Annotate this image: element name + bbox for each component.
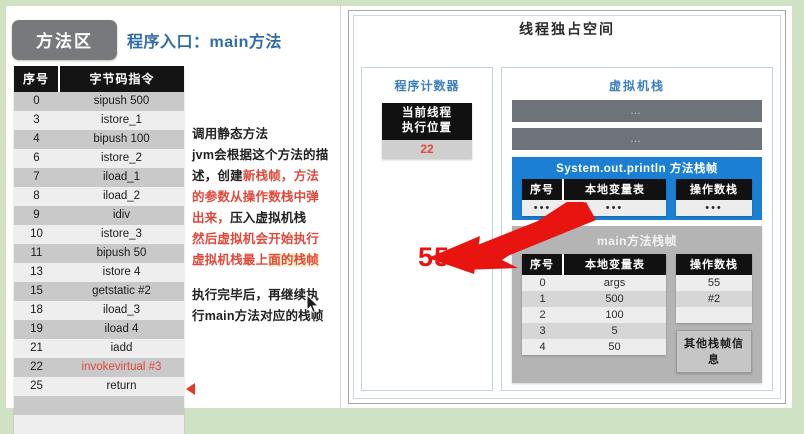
operand-stack-row: 55 [676, 275, 752, 291]
bytecode-row-index: 18 [14, 301, 59, 320]
bytecode-row-instruction: iload 4 [59, 320, 184, 339]
bytecode-row-index: 25 [14, 377, 59, 396]
main-lvt-header-row: 序号 本地变量表 [522, 254, 666, 275]
vm-stack-empty-slot: … [512, 100, 762, 122]
bytecode-row-instruction: iload_2 [59, 187, 184, 206]
bytecode-row-index: 7 [14, 168, 59, 187]
println-frame-columns: 序号 本地变量表 •••••• 操作数栈 [512, 179, 762, 216]
bytecode-row-instruction [59, 415, 184, 434]
bytecode-row: 0sipush 500 [14, 92, 184, 111]
bytecode-row-index: 21 [14, 339, 59, 358]
main-frame-columns: 序号 本地变量表 0args1500210035450 操作数栈 [512, 254, 762, 373]
println-lvt-col-index: 序号 [522, 179, 563, 200]
bytecode-row: 21iadd [14, 339, 184, 358]
bytecode-row [14, 396, 184, 415]
lvt-row: 2100 [522, 307, 666, 323]
bytecode-row-index [14, 415, 59, 434]
bytecode-row: 10istore_3 [14, 225, 184, 244]
bytecode-row: 4bipush 100 [14, 130, 184, 149]
lvt-row-value: 100 [563, 307, 666, 323]
program-counter-cell-header: 当前线程 执行位置 [382, 103, 472, 140]
lvt-row-index: 0 [522, 275, 563, 291]
method-area-pane: 方法区 程序入口：main方法 序号 字节码指令 0sipush 5003ist… [6, 6, 342, 408]
main-local-variable-table: 序号 本地变量表 0args1500210035450 [522, 254, 666, 355]
bytecode-row-instruction: istore 4 [59, 263, 184, 282]
println-ops-header-row: 操作数栈 [676, 179, 752, 200]
bytecode-row-instruction: istore_3 [59, 225, 184, 244]
main-lvt-col-value: 本地变量表 [563, 254, 666, 275]
bytecode-row: 25return [14, 377, 184, 396]
bytecode-row-index: 10 [14, 225, 59, 244]
bytecode-row-instruction: bipush 50 [59, 244, 184, 263]
bytecode-row: 19iload 4 [14, 320, 184, 339]
bytecode-row-index: 13 [14, 263, 59, 282]
main-frame-title: main方法栈帧 [512, 230, 762, 254]
main-ops-body: 55#2 [676, 275, 752, 323]
bytecode-row-index: 0 [14, 92, 59, 111]
annotation-line-7: 虚拟机栈最上面的栈帧 [192, 250, 344, 271]
lvt-row: 450 [522, 339, 666, 355]
main-lvt-body: 0args1500210035450 [522, 275, 666, 355]
lvt-row-index: ••• [522, 200, 563, 216]
operand-stack-value: 55 [676, 275, 752, 291]
annotation-text-block: 调用静态方法 jvm会根据这个方法的描 述，创建新栈帧，方法 的参数从操作数栈中… [192, 124, 344, 327]
annotation-line-3-black: 述，创建 [192, 169, 243, 183]
main-ops-header-row: 操作数栈 [676, 254, 752, 275]
main-operand-stack-table: 操作数栈 55#2 [676, 254, 752, 323]
bytecode-row: 22invokevirtual #3 [14, 358, 184, 377]
lvt-row-index: 4 [522, 339, 563, 355]
main-lvt-col-index: 序号 [522, 254, 563, 275]
bytecode-row-instruction: iadd [59, 339, 184, 358]
bytecode-row-instruction: istore_2 [59, 149, 184, 168]
vm-stack-title: 虚拟机栈 [502, 77, 772, 94]
annotation-line-7-b-highlighted: 面的栈帧 [268, 253, 319, 267]
lvt-row: 1500 [522, 291, 666, 307]
annotation-line-5: 出来，压入虚拟机栈 [192, 208, 344, 229]
lvt-row-value: args [563, 275, 666, 291]
operand-stack-row: ••• [676, 200, 752, 216]
lvt-row-index: 3 [522, 323, 563, 339]
pane-divider [340, 6, 341, 408]
program-counter-cell: 当前线程 执行位置 22 [382, 103, 472, 159]
annotation-line-1: 调用静态方法 [192, 124, 344, 145]
bytecode-row: 9idiv [14, 206, 184, 225]
println-ops-col-title: 操作数栈 [676, 179, 752, 200]
annotation-line-4: 的参数从操作数栈中弹 [192, 187, 344, 208]
mouse-cursor-icon [306, 294, 320, 314]
bytecode-row-index: 3 [14, 111, 59, 130]
bytecode-row [14, 415, 184, 434]
current-instruction-marker-icon [186, 383, 195, 395]
bytecode-table-body: 0sipush 5003istore_14bipush 1006istore_2… [14, 92, 184, 434]
bytecode-row: 18iload_3 [14, 301, 184, 320]
bytecode-row-index: 19 [14, 320, 59, 339]
vm-stack-panel: 虚拟机栈 … … System.out.println 方法栈帧 序号 本地变量… [501, 67, 773, 391]
pc-label-line-2: 执行位置 [382, 121, 472, 136]
main-ops-col-title: 操作数栈 [676, 254, 752, 275]
program-counter-value: 22 [382, 140, 472, 159]
bytecode-row: 11bipush 50 [14, 244, 184, 263]
bytecode-row-index: 8 [14, 187, 59, 206]
bytecode-row-index: 22 [14, 358, 59, 377]
arrow-value-label: 55 [418, 242, 450, 273]
thread-space-title: 线程独占空间 [349, 19, 785, 39]
println-operand-stack-column: 操作数栈 ••• [676, 179, 752, 216]
operand-stack-value [676, 307, 752, 323]
bytecode-row-instruction: sipush 500 [59, 92, 184, 111]
bytecode-col-index: 序号 [14, 66, 59, 92]
bytecode-table-header-row: 序号 字节码指令 [14, 66, 184, 92]
pc-label-line-1: 当前线程 [382, 106, 472, 121]
operand-stack-row: #2 [676, 291, 752, 307]
operand-stack-value: ••• [676, 200, 752, 216]
bytecode-row-instruction: bipush 100 [59, 130, 184, 149]
lvt-row: •••••• [522, 200, 666, 216]
println-lvt-body: •••••• [522, 200, 666, 216]
main-operand-stack-column: 操作数栈 55#2 其他栈帧信息 [676, 254, 752, 373]
bytecode-row-instruction: invokevirtual #3 [59, 358, 184, 377]
lvt-row: 0args [522, 275, 666, 291]
annotation-line-5-black: 压入虚拟机栈 [230, 211, 306, 225]
program-entry-title: 程序入口：main方法 [127, 28, 282, 52]
bytecode-row-index: 15 [14, 282, 59, 301]
bytecode-row-instruction: iload_1 [59, 168, 184, 187]
bytecode-row: 3istore_1 [14, 111, 184, 130]
println-lvt-header-row: 序号 本地变量表 [522, 179, 666, 200]
lvt-row-index: 1 [522, 291, 563, 307]
bytecode-row-instruction: idiv [59, 206, 184, 225]
method-area-chip: 方法区 [12, 20, 117, 60]
thread-exclusive-space-panel: 线程独占空间 程序计数器 当前线程 执行位置 22 虚拟机栈 … … Syste… [348, 10, 786, 404]
bytecode-row-index: 9 [14, 206, 59, 225]
annotation-line-8: 执行完毕后，再继续执 [192, 285, 344, 306]
annotation-line-6: 然后虚拟机会开始执行 [192, 229, 344, 250]
lvt-row-value: 500 [563, 291, 666, 307]
main-stack-frame: main方法栈帧 序号 本地变量表 0args1500210035450 [512, 226, 762, 383]
println-lvt-col-value: 本地变量表 [563, 179, 666, 200]
bytecode-row-index: 11 [14, 244, 59, 263]
annotation-line-7-a: 虚拟机栈最上 [192, 253, 268, 267]
bytecode-row: 6istore_2 [14, 149, 184, 168]
bytecode-row: 13istore 4 [14, 263, 184, 282]
println-frame-title: System.out.println 方法栈帧 [512, 159, 762, 179]
bytecode-row-instruction: iload_3 [59, 301, 184, 320]
bytecode-row: 15getstatic #2 [14, 282, 184, 301]
bytecode-row: 8iload_2 [14, 187, 184, 206]
bytecode-row-index [14, 396, 59, 415]
bytecode-table: 序号 字节码指令 0sipush 5003istore_14bipush 100… [14, 66, 184, 434]
annotation-line-3-red: 新栈帧，方法 [243, 169, 319, 183]
println-ops-body: ••• [676, 200, 752, 216]
slide-page: 方法区 程序入口：main方法 序号 字节码指令 0sipush 5003ist… [6, 6, 792, 408]
operand-stack-value: #2 [676, 291, 752, 307]
bytecode-row-index: 6 [14, 149, 59, 168]
method-area-header: 方法区 程序入口：main方法 [12, 20, 282, 60]
bytecode-row-instruction [59, 396, 184, 415]
annotation-line-3: 述，创建新栈帧，方法 [192, 166, 344, 187]
lvt-row-value: ••• [563, 200, 666, 216]
annotation-spacer [192, 271, 344, 285]
operand-stack-row [676, 307, 752, 323]
bytecode-row: 7iload_1 [14, 168, 184, 187]
program-counter-panel: 程序计数器 当前线程 执行位置 22 [361, 67, 493, 391]
println-stack-frame: System.out.println 方法栈帧 序号 本地变量表 •••••• [512, 157, 762, 220]
bytecode-row-instruction: istore_1 [59, 111, 184, 130]
vm-stack-empty-slot: … [512, 128, 762, 150]
annotation-line-5-red: 出来， [192, 211, 230, 225]
lvt-row: 35 [522, 323, 666, 339]
program-counter-title: 程序计数器 [362, 77, 492, 94]
other-frame-info-box: 其他栈帧信息 [676, 330, 752, 373]
println-local-variable-table: 序号 本地变量表 •••••• [522, 179, 666, 216]
bytecode-row-instruction: getstatic #2 [59, 282, 184, 301]
lvt-row-value: 5 [563, 323, 666, 339]
bytecode-col-instruction: 字节码指令 [59, 66, 184, 92]
annotation-line-9: 行main方法对应的栈帧 [192, 306, 344, 327]
annotation-line-2: jvm会根据这个方法的描 [192, 145, 344, 166]
bytecode-row-index: 4 [14, 130, 59, 149]
lvt-row-index: 2 [522, 307, 563, 323]
lvt-row-value: 50 [563, 339, 666, 355]
bytecode-row-instruction: return [59, 377, 184, 396]
println-operand-stack-table: 操作数栈 ••• [676, 179, 752, 216]
